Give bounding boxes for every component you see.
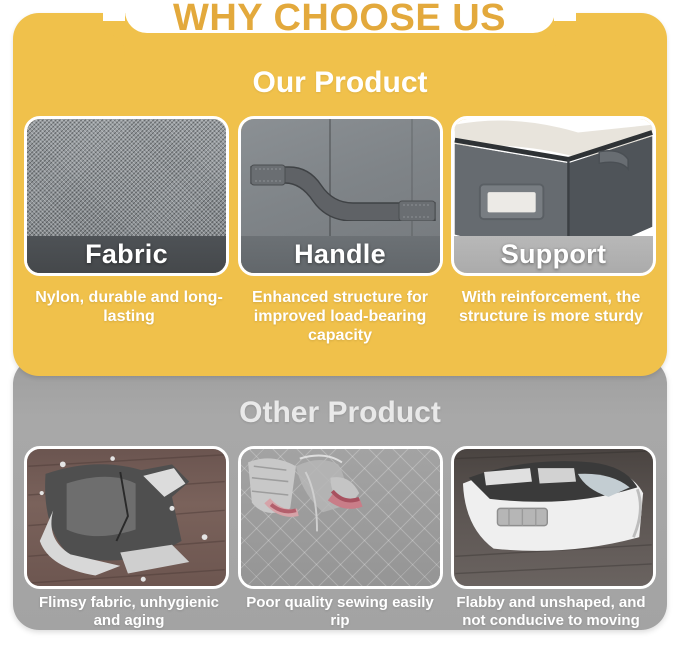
card-label-handle: Handle bbox=[241, 236, 440, 273]
our-product-card-fabric[interactable]: Fabric bbox=[24, 116, 229, 276]
our-product-card-handle[interactable]: Handle bbox=[238, 116, 443, 276]
damaged-bag-image bbox=[27, 449, 226, 586]
other-product-caption-flabby: Flabby and unshaped, and not conducive t… bbox=[446, 594, 656, 630]
handle-strap-shape bbox=[249, 161, 439, 221]
our-product-caption-handle: Enhanced structure for improved load-bea… bbox=[235, 288, 445, 345]
other-product-caption-flimsy: Flimsy fabric, unhygienic and aging bbox=[24, 594, 234, 630]
card-label-support: Support bbox=[454, 236, 653, 273]
ripped-seam-image bbox=[241, 449, 440, 586]
our-product-card-support[interactable]: Support bbox=[451, 116, 656, 276]
our-product-caption-row: Nylon, durable and long-lasting Enhanced… bbox=[13, 288, 667, 345]
infographic-root: WHY CHOOSE US Our Product Other Product … bbox=[0, 0, 679, 645]
our-product-caption-support: With reinforcement, the structure is mor… bbox=[446, 288, 656, 345]
our-product-caption-fabric: Nylon, durable and long-lasting bbox=[24, 288, 234, 345]
collapsed-bag-image bbox=[454, 449, 653, 586]
card-label-fabric: Fabric bbox=[27, 236, 226, 273]
our-product-card-row: Fabric Handle bbox=[13, 116, 667, 276]
other-product-caption-row: Flimsy fabric, unhygienic and aging Poor… bbox=[13, 594, 667, 630]
other-product-title: Other Product bbox=[13, 396, 667, 430]
other-product-caption-sewing: Poor quality sewing easily rip bbox=[235, 594, 445, 630]
other-product-card-sewing[interactable] bbox=[238, 446, 443, 589]
other-product-card-flabby[interactable] bbox=[451, 446, 656, 589]
our-product-title: Our Product bbox=[13, 66, 667, 100]
page-title: WHY CHOOSE US bbox=[0, 0, 679, 40]
other-product-card-row bbox=[13, 446, 667, 589]
other-product-card-flimsy[interactable] bbox=[24, 446, 229, 589]
